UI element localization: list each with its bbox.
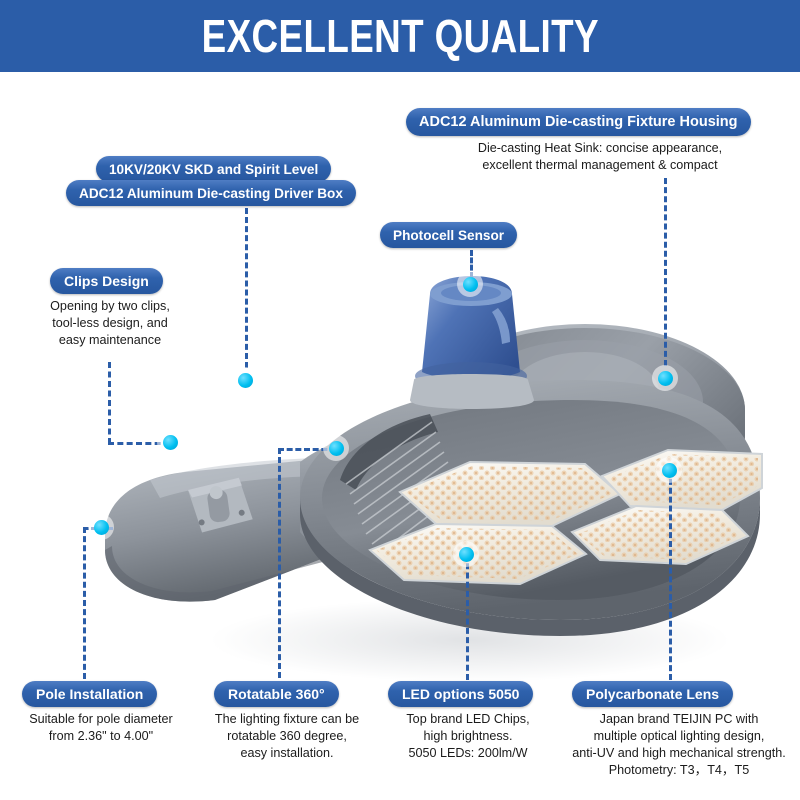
callout-desc-clips: Opening by two clips, tool-less design, … xyxy=(30,298,190,349)
connector-dot-clips xyxy=(157,429,183,455)
callout-badge-rotatable[interactable]: Rotatable 360° xyxy=(214,681,339,707)
callout-badge-photocell[interactable]: Photocell Sensor xyxy=(380,222,517,248)
callout-badge-skd[interactable]: 10KV/20KV SKD and Spirit Level xyxy=(96,156,331,182)
leader-lens xyxy=(669,470,672,680)
callout-badge-led-options[interactable]: LED options 5050 xyxy=(388,681,533,707)
header-banner: EXCELLENT QUALITY xyxy=(0,0,800,72)
callout-badge-housing[interactable]: ADC12 Aluminum Die-casting Fixture Housi… xyxy=(406,108,751,136)
connector-dot-rotatable xyxy=(323,435,349,461)
callout-badge-driver-box[interactable]: ADC12 Aluminum Die-casting Driver Box xyxy=(66,180,356,206)
leader-driverbox xyxy=(245,208,248,368)
callout-desc-housing: Die-casting Heat Sink: concise appearanc… xyxy=(420,140,780,174)
connector-dot-photocell xyxy=(457,271,483,297)
leader-pole-v xyxy=(83,527,86,679)
connector-dot-lens xyxy=(656,457,682,483)
leader-clips-v xyxy=(108,362,111,444)
page-title: EXCELLENT QUALITY xyxy=(201,13,598,59)
callout-badge-polycarbonate-lens[interactable]: Polycarbonate Lens xyxy=(572,681,733,707)
connector-dot-driverbox xyxy=(232,367,258,393)
connector-dot-led xyxy=(453,541,479,567)
callout-desc-polycarbonate-lens: Japan brand TEIJIN PC with multiple opti… xyxy=(560,711,798,779)
sensor-neck xyxy=(410,374,534,409)
callout-badge-pole-installation[interactable]: Pole Installation xyxy=(22,681,157,707)
callout-desc-led-options: Top brand LED Chips, high brightness. 50… xyxy=(378,711,558,762)
callout-desc-rotatable: The lighting fixture can be rotatable 36… xyxy=(192,711,382,762)
leader-rot-v xyxy=(278,448,281,678)
leader-housing xyxy=(664,178,667,366)
leader-led xyxy=(466,554,469,680)
callout-badge-clips[interactable]: Clips Design xyxy=(50,268,163,294)
connector-dot-housing xyxy=(652,365,678,391)
connector-dot-pole xyxy=(88,514,114,540)
callout-desc-pole-installation: Suitable for pole diameter from 2.36" to… xyxy=(6,711,196,745)
